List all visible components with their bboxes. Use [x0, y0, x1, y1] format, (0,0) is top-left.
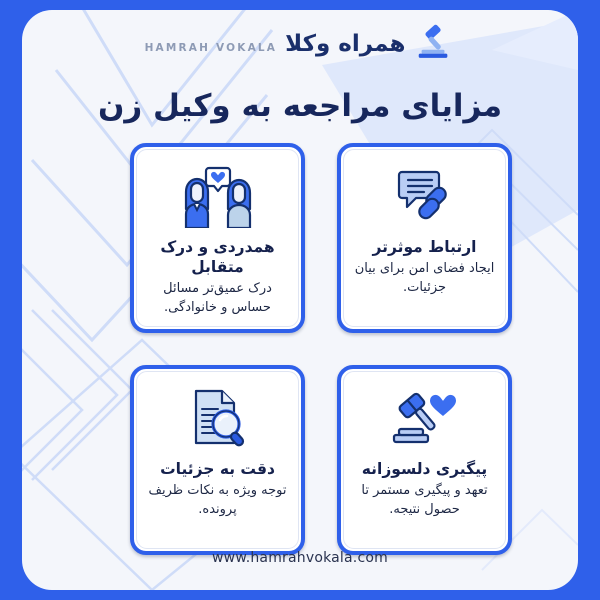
card-title: پیگیری دلسوزانه — [362, 459, 487, 479]
document-magnifier-icon — [186, 383, 250, 455]
logo-brand-fa: همراه وکلا — [277, 31, 405, 57]
benefit-card-dedication[interactable]: پیگیری دلسوزانه تعهد و پیگیری مستمر تا ح… — [337, 365, 512, 555]
chat-bubble-link-icon — [394, 161, 456, 233]
poster-canvas: همراه وکلا HAMRAH VOKALA مزایای مراجعه ب… — [0, 0, 600, 600]
card-title: همدردی و درک متقابل — [134, 237, 301, 277]
card-title: دقت به جزئیات — [160, 459, 275, 479]
benefit-card-grid: ارتباط موثرتر ایجاد فضای امن برای بیان ج… — [110, 143, 512, 555]
brand-logo: همراه وکلا HAMRAH VOKALA — [22, 24, 578, 64]
two-women-heart-icon — [180, 161, 256, 233]
benefit-card-communication[interactable]: ارتباط موثرتر ایجاد فضای امن برای بیان ج… — [337, 143, 512, 333]
gavel-icon — [413, 24, 455, 64]
website-url[interactable]: www.hamrahvokala.com — [22, 550, 578, 566]
inner-panel: همراه وکلا HAMRAH VOKALA مزایای مراجعه ب… — [22, 10, 578, 590]
benefit-card-empathy[interactable]: همدردی و درک متقابل درک عمیق‌تر مسائل حس… — [130, 143, 305, 333]
card-description: ایجاد فضای امن برای بیان جزئیات. — [341, 260, 508, 298]
card-description: درک عمیق‌تر مسائل حساس و خانوادگی. — [134, 280, 301, 318]
card-description: توجه ویژه به نکات ظریف پرونده. — [134, 482, 301, 520]
logo-brand-en: HAMRAH VOKALA — [145, 42, 278, 54]
card-description: تعهد و پیگیری مستمر تا حصول نتیجه. — [341, 482, 508, 520]
gavel-heart-icon — [391, 383, 459, 455]
benefit-card-attention-to-detail[interactable]: دقت به جزئیات توجه ویژه به نکات ظریف پرو… — [130, 365, 305, 555]
card-title: ارتباط موثرتر — [373, 237, 477, 257]
page-title: مزایای مراجعه به وکیل زن — [22, 88, 578, 124]
